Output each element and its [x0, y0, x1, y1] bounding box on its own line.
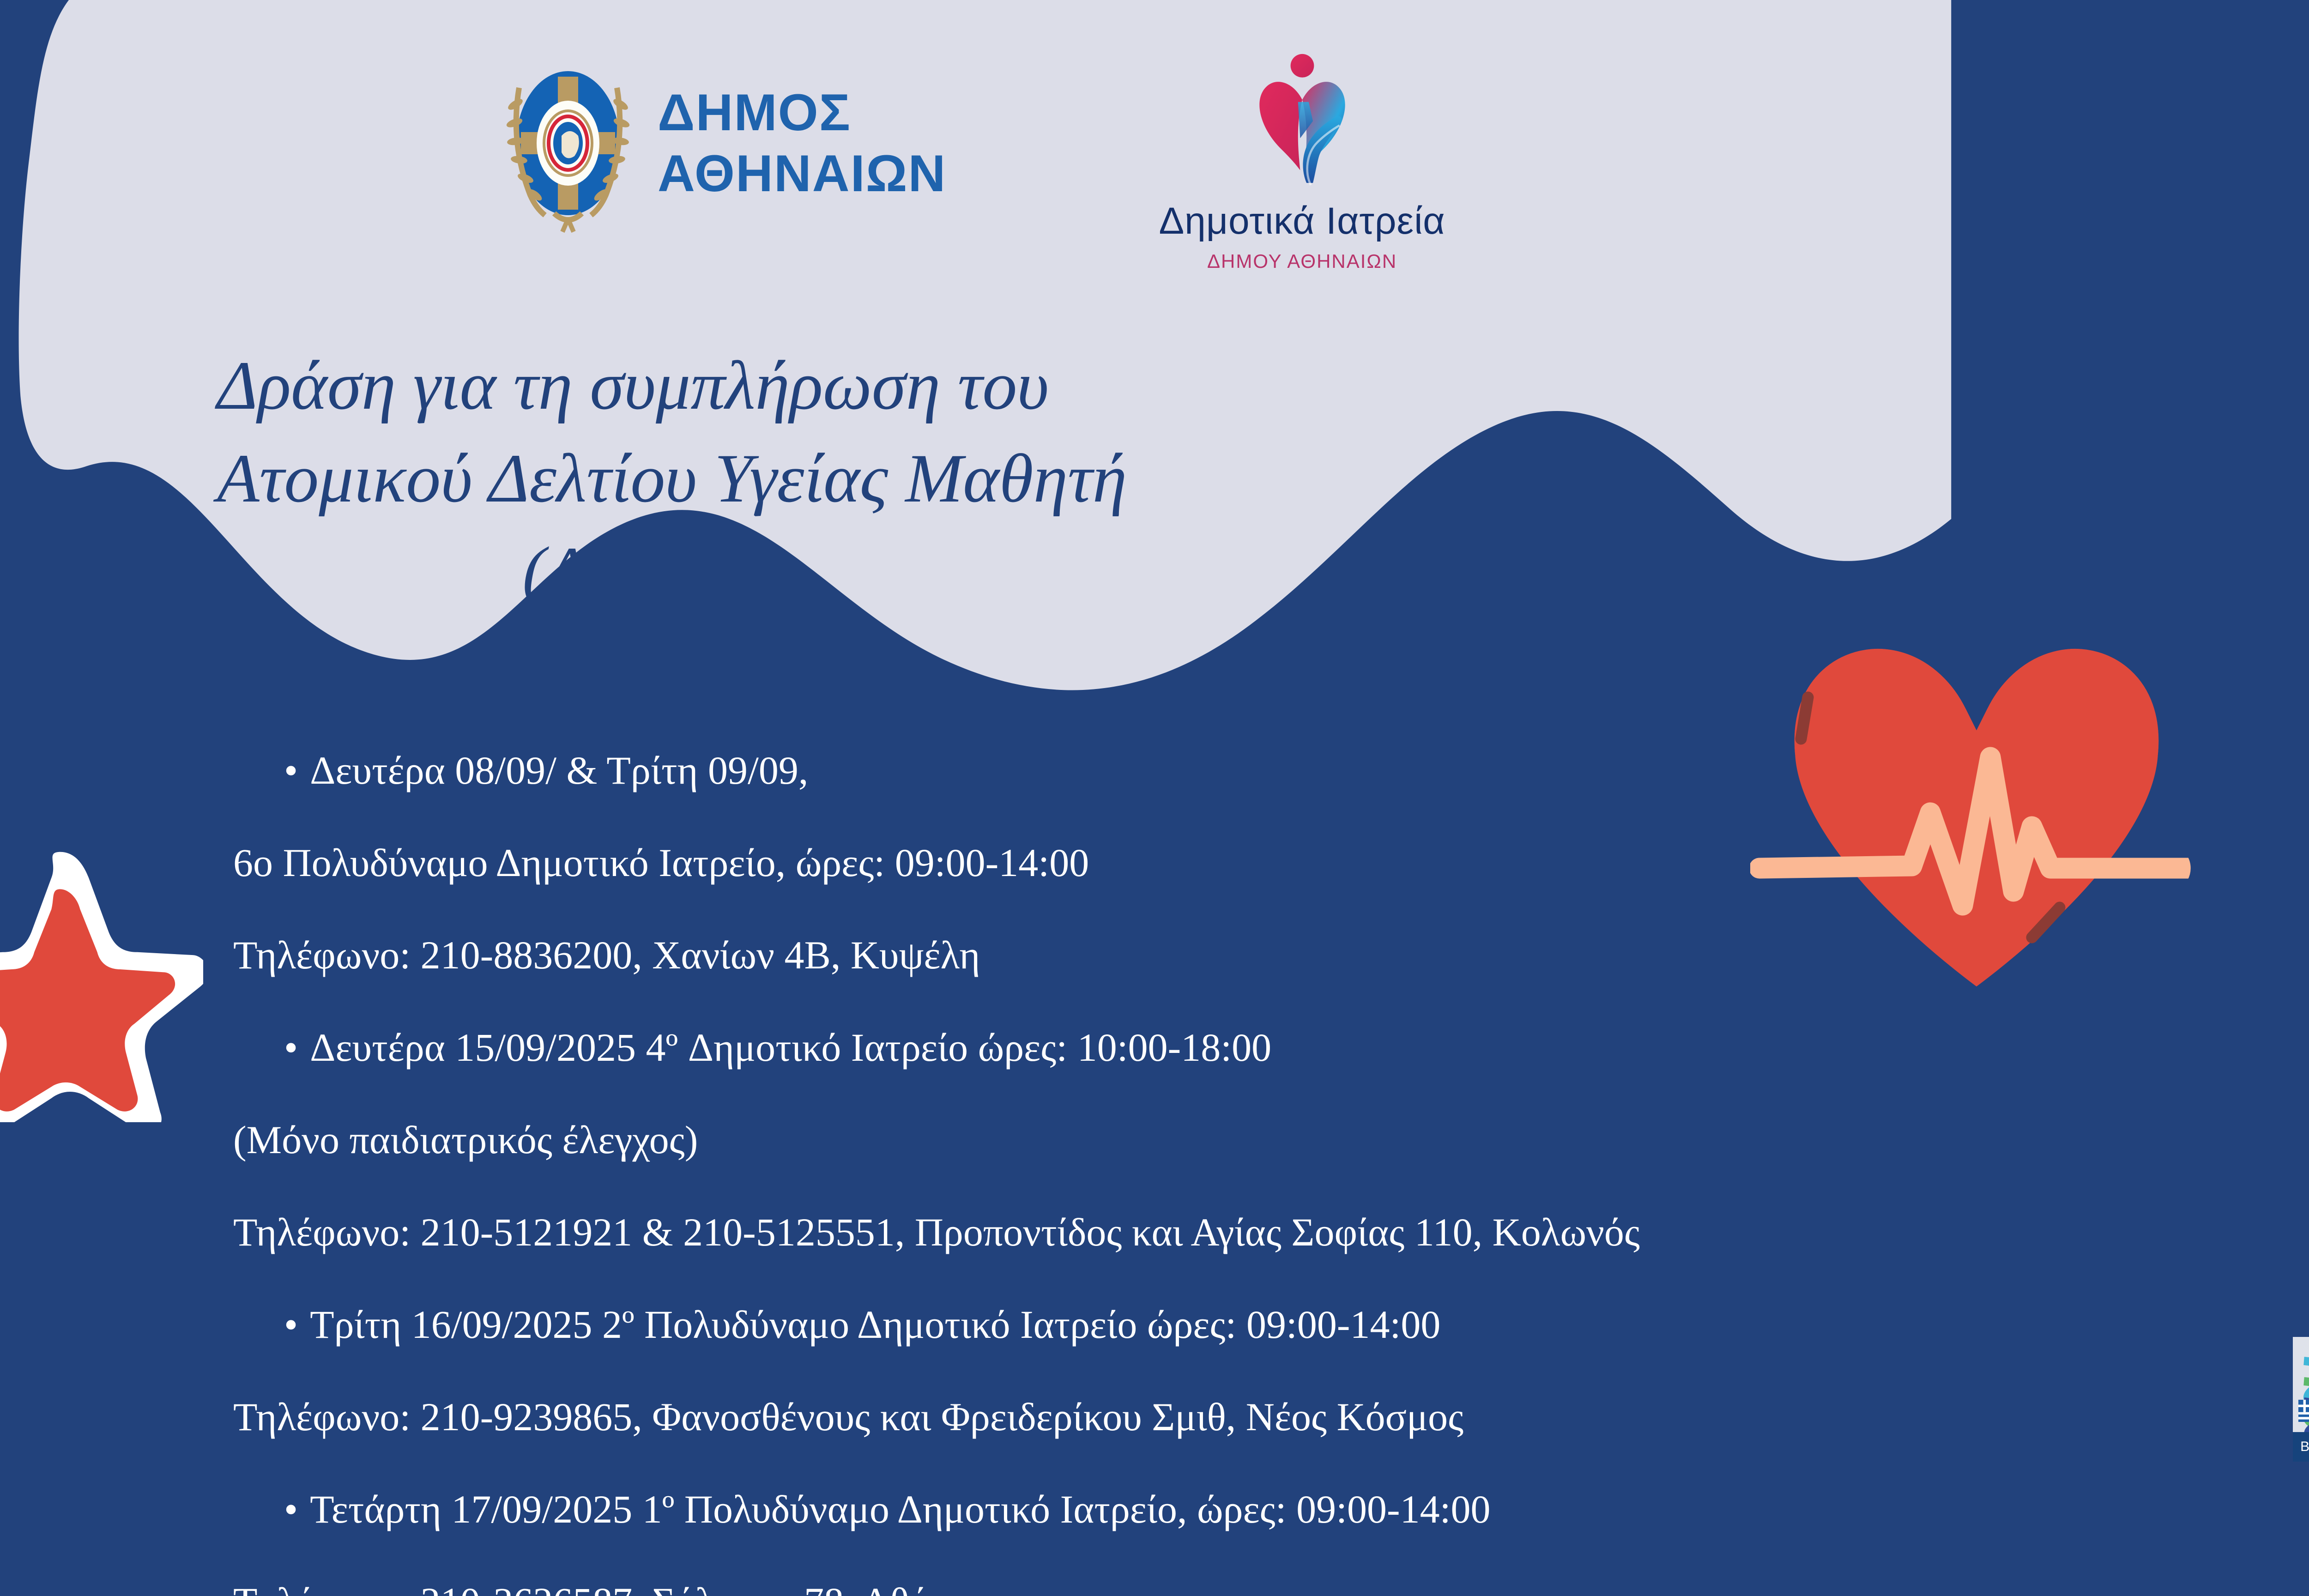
- espa-small-flags: [2298, 1400, 2309, 1422]
- schedule-row: •Δευτέρα 15/09/2025 4º Δημοτικό Ιατρείο …: [233, 1028, 2219, 1120]
- schedule-row: Τηλέφωνο: 210-9239865, Φανοσθένους και Φ…: [233, 1397, 2219, 1489]
- athens-crest-icon: [499, 51, 637, 236]
- title-line-2: Ατομικού Δελτίου Υγείας Μαθητή: [217, 432, 1602, 525]
- logo-iatreia-sub: ΔΗΜΟΥ ΑΘΗΝΑΙΩΝ: [1207, 250, 1397, 272]
- logo-athens-line1: ΔΗΜΟΣ: [658, 82, 946, 143]
- schedule-row-text: Τηλέφωνο: 210-3626587, Σόλωνος 78, Αθήνα: [233, 1582, 969, 1596]
- star-left-icon: [0, 845, 203, 1122]
- schedule-row: Τηλέφωνο: 210-8836200, Χανίων 4Β, Κυψέλη: [233, 935, 2219, 1028]
- espa-eu-banner: ΕΣΠΑ 2021-2027: [2293, 1337, 2309, 1462]
- schedule-row-text: Τρίτη 16/09/2025 2º Πολυδύναμο Δημοτικό …: [310, 1305, 1440, 1344]
- espa-logo: ΕΣΠΑ 2021-2027: [2293, 1337, 2309, 1462]
- schedule-row: (Μόνο παιδιατρικός έλεγχος): [233, 1120, 2219, 1212]
- schedule-row-text: Δευτέρα 08/09/ & Τρίτη 09/09,: [310, 750, 808, 790]
- poster-title: Δράση για τη συμπλήρωση του Ατομικού Δελ…: [217, 339, 1602, 618]
- logo-iatreia: Δημοτικά Ιατρεία ΔΗΜΟΥ ΑΘΗΝΑΙΩΝ: [1159, 51, 1445, 272]
- bullet-icon: •: [284, 1028, 298, 1067]
- greece-flag-icon: [2298, 1400, 2309, 1422]
- schedule-row: •Δευτέρα 08/09/ & Τρίτη 09/09,: [233, 750, 2219, 843]
- schedule-row-text: Τετάρτη 17/09/2025 1º Πολυδύναμο Δημοτικ…: [310, 1489, 1490, 1529]
- schedule-row-text: Τηλέφωνο: 210-5121921 & 210-5125551, Προ…: [233, 1212, 1640, 1252]
- espa-tagline: Βιώσιμη Ανάπτυξη για Όλους: [2293, 1432, 2309, 1462]
- bullet-icon: •: [284, 1489, 298, 1529]
- logo-iatreia-name: Δημοτικά Ιατρεία: [1159, 199, 1445, 243]
- schedule-row-text: Τηλέφωνο: 210-9239865, Φανοσθένους και Φ…: [233, 1397, 1463, 1437]
- schedule-row-text: 6ο Πολυδύναμο Δημοτικό Ιατρείο, ώρες: 09…: [233, 843, 1089, 883]
- title-line-1: Δράση για τη συμπλήρωση του: [217, 339, 1602, 432]
- logo-row: ΔΗΜΟΣ ΑΘΗΝΑΙΩΝ: [499, 51, 1445, 272]
- schedule-row-text: (Μόνο παιδιατρικός έλεγχος): [233, 1120, 698, 1160]
- schedule-row-text: Τηλέφωνο: 210-8836200, Χανίων 4Β, Κυψέλη: [233, 935, 980, 975]
- logo-athens: ΔΗΜΟΣ ΑΘΗΝΑΙΩΝ: [499, 51, 946, 236]
- schedule-row: •Τετάρτη 17/09/2025 1º Πολυδύναμο Δημοτι…: [233, 1489, 2219, 1582]
- logo-athens-line2: ΑΘΗΝΑΙΩΝ: [658, 143, 946, 204]
- schedule-row-text: Δευτέρα 15/09/2025 4º Δημοτικό Ιατρείο ώ…: [310, 1028, 1271, 1067]
- bullet-icon: •: [284, 1305, 298, 1344]
- heart-hand-mark-icon: [1233, 51, 1372, 189]
- schedule-row: 6ο Πολυδύναμο Δημοτικό Ιατρείο, ώρες: 09…: [233, 843, 2219, 935]
- espa-swoosh-icon: [2297, 1350, 2309, 1442]
- bullet-icon: •: [284, 750, 298, 790]
- schedule-row: Τηλέφωνο: 210-3626587, Σόλωνος 78, Αθήνα: [233, 1582, 2219, 1596]
- title-line-3: (ΑΔΥΜ): [217, 525, 1048, 618]
- schedule-row: Τηλέφωνο: 210-5121921 & 210-5125551, Προ…: [233, 1212, 2219, 1305]
- schedule-row: •Τρίτη 16/09/2025 2º Πολυδύναμο Δημοτικό…: [233, 1305, 2219, 1397]
- poster-canvas: ΔΗΜΟΣ ΑΘΗΝΑΙΩΝ: [0, 0, 2309, 1596]
- schedule-list: •Δευτέρα 08/09/ & Τρίτη 09/09,6ο Πολυδύν…: [233, 750, 2219, 1596]
